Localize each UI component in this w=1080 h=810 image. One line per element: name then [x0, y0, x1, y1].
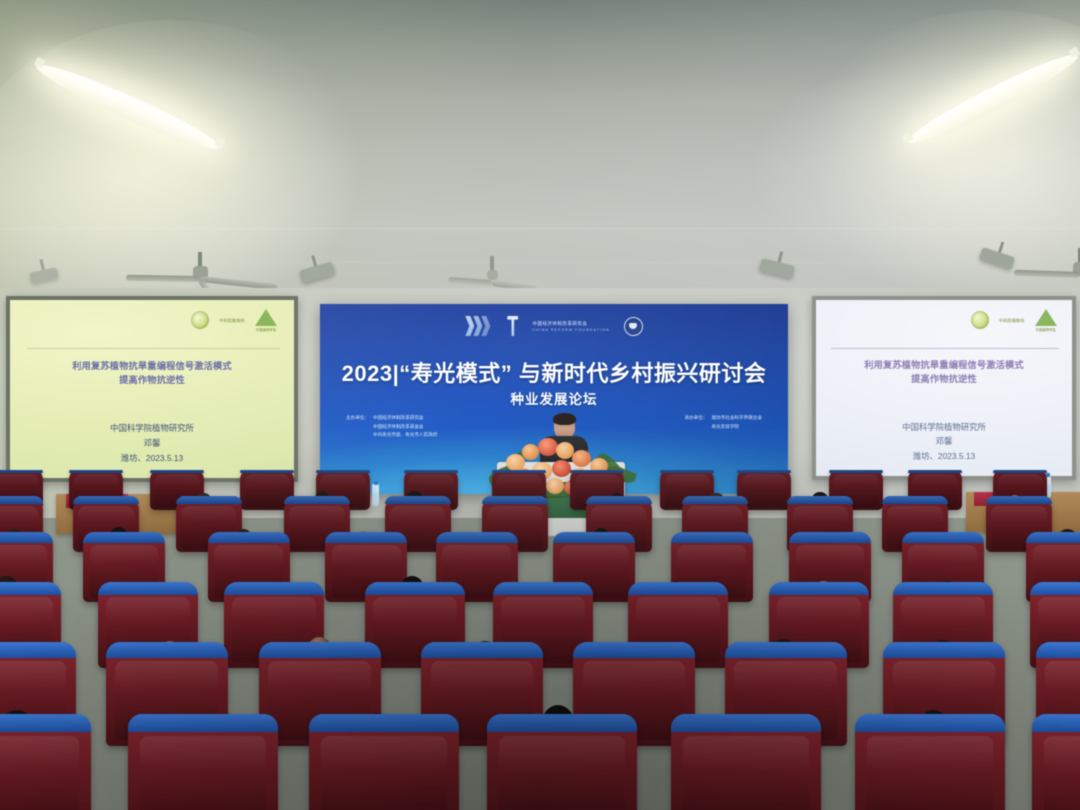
auditorium-seat	[855, 714, 1005, 810]
slide-logos-left: 中科院植物所 中国植物学会	[191, 309, 277, 332]
institute-round-logo-icon	[191, 311, 209, 329]
slide-title-line1: 利用复苏植物抗旱重编程信号激活模式	[30, 359, 274, 373]
ceiling	[0, 0, 1080, 292]
auditorium-seat	[128, 714, 278, 810]
banner-subtitle: 种业发展论坛	[320, 388, 788, 408]
slide-presenter: 邓馨	[834, 434, 1054, 449]
slide-logo-label-1: 中科院植物所	[999, 318, 1025, 323]
auditorium-seat	[671, 714, 821, 810]
china-reform-foundation-logo: 中国经济体制改革研究会 CHINA REFORM FOUNDATION	[532, 321, 609, 332]
slide-meta-left: 中国科学院植物研究所 邓馨 潍坊、2023.5.13	[30, 421, 274, 465]
coorganizer-org-1: 潍坊市社会科学界联合会	[711, 414, 762, 423]
institute-triangle-logo-icon: 中国植物学会	[255, 309, 277, 332]
slide-divider	[831, 348, 1059, 349]
conference-hall-photo: 中科院植物所 中国植物学会 利用复苏植物抗旱重编程信号激活模式 提高作物抗逆性 …	[0, 0, 1080, 810]
slide-institution: 中国科学院植物研究所	[834, 420, 1054, 435]
slide-place-date: 潍坊、2023.5.13	[834, 449, 1054, 464]
host-label: 主办单位：	[346, 414, 369, 440]
slide-institution: 中国科学院植物研究所	[30, 421, 274, 436]
slide-logos-right: 中科院植物所 中国植物学会	[971, 309, 1057, 332]
banner-logo-cn: 中国经济体制改革研究会	[532, 321, 587, 327]
host-org-3: 中共寿光市委、寿光市人民政府	[373, 431, 437, 440]
slide-logo-label-2: 中国植物学会	[1035, 327, 1055, 332]
slide-title-line1: 利用复苏植物抗旱重编程信号激活模式	[834, 358, 1054, 372]
slide-title-line2: 提高作物抗逆性	[30, 373, 274, 387]
host-org-2: 中国经济体制改革基金会	[373, 423, 437, 432]
auditorium-seat	[1032, 714, 1080, 810]
institute-triangle-logo-icon: 中国植物学会	[1035, 309, 1057, 332]
banner-title: 2023|“寿光模式” 与新时代乡村振兴研讨会	[320, 356, 788, 388]
coorganizer-org-2: 寿光农技学院	[711, 423, 762, 432]
host-org-1: 中国经济体制改革研究会	[373, 414, 437, 423]
slide-logo-label-1: 中科院植物所	[219, 318, 245, 323]
coorganizer-label: 承办单位：	[684, 414, 707, 440]
circular-emblem-icon	[624, 317, 643, 336]
slide-title-right: 利用复苏植物抗旱重编程信号激活模式 提高作物抗逆性	[834, 358, 1054, 387]
auditorium-seat	[309, 714, 459, 810]
coorganizers: 承办单位： 潍坊市社会科学界联合会 寿光农技学院	[684, 414, 762, 440]
slide-title-line2: 提高作物抗逆性	[834, 372, 1054, 386]
audience-seating	[0, 470, 1080, 810]
banner-logo-row: 中国经济体制改革研究会 CHINA REFORM FOUNDATION	[320, 316, 788, 336]
slide-place-date: 潍坊、2023.5.13	[30, 451, 274, 466]
ceiling-seam	[0, 228, 1080, 229]
projection-screen-right: 中科院植物所 中国植物学会 利用复苏植物抗旱重编程信号激活模式 提高作物抗逆性 …	[812, 296, 1076, 480]
host-organizers: 主办单位： 中国经济体制改革研究会 中国经济体制改革基金会 中共寿光市委、寿光市…	[346, 414, 437, 440]
slide-meta-right: 中国科学院植物研究所 邓馨 潍坊、2023.5.13	[834, 420, 1054, 464]
ceiling-fan-center-icon	[452, 256, 532, 290]
chevron-mark-icon	[465, 316, 493, 336]
slide-title-left: 利用复苏植物抗旱重编程信号激活模式 提高作物抗逆性	[30, 359, 274, 388]
tm-mark-icon	[507, 316, 518, 336]
slide-logo-label-2: 中国植物学会	[256, 327, 276, 332]
institute-round-logo-icon	[971, 311, 989, 329]
auditorium-seat	[0, 714, 91, 810]
slide-left: 中科院植物所 中国植物学会 利用复苏植物抗旱重编程信号激活模式 提高作物抗逆性 …	[10, 300, 294, 478]
slide-presenter: 邓馨	[30, 436, 274, 451]
projection-screen-left: 中科院植物所 中国植物学会 利用复苏植物抗旱重编程信号激活模式 提高作物抗逆性 …	[6, 296, 298, 482]
banner-logo-en: CHINA REFORM FOUNDATION	[532, 328, 609, 332]
slide-right: 中科院植物所 中国植物学会 利用复苏植物抗旱重编程信号激活模式 提高作物抗逆性 …	[816, 300, 1072, 476]
auditorium-seat	[487, 714, 637, 810]
slide-divider	[27, 348, 280, 349]
